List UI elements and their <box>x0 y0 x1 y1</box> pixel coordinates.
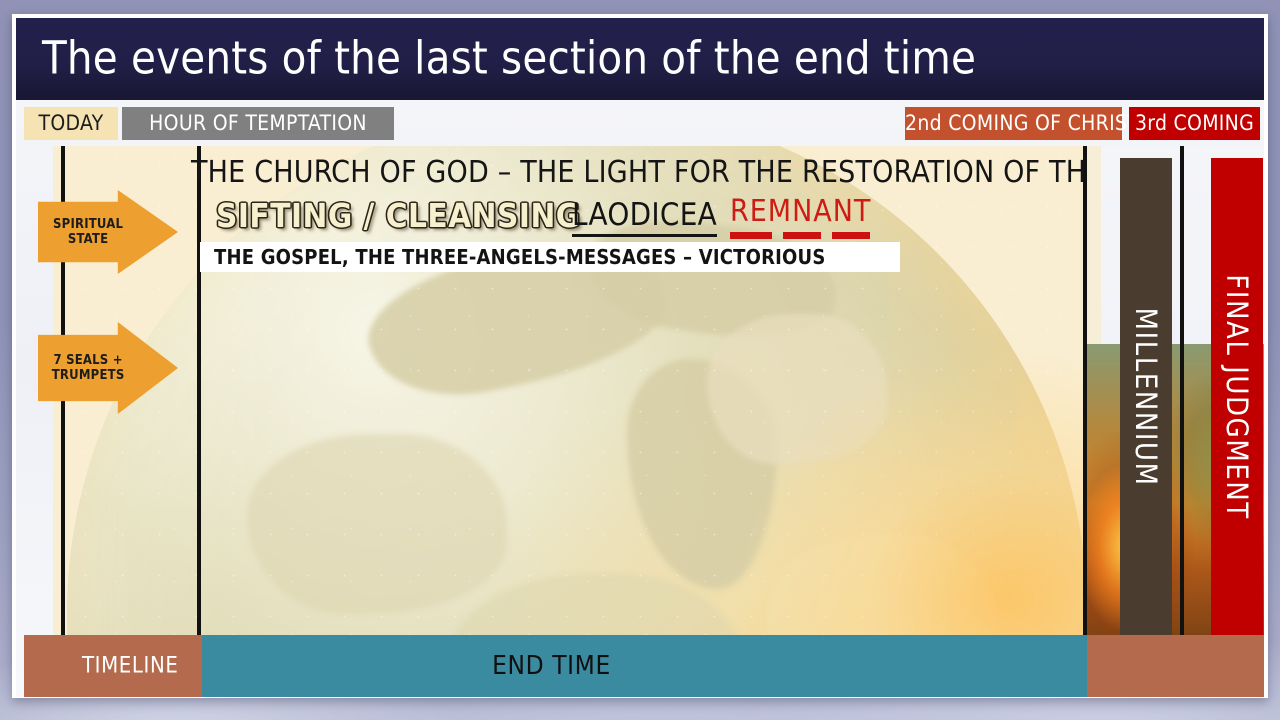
right-panel-region: MILLENNIUM FINAL JUDGMENT <box>1087 146 1264 635</box>
remnant-dashed-underline <box>730 232 871 239</box>
timeline-segment-after <box>1087 635 1264 697</box>
heading-laodicea: LAODICEA <box>572 197 717 237</box>
remnant-dash <box>730 232 772 239</box>
title-bar: The events of the last section of the en… <box>16 18 1264 100</box>
chip-second-coming-of-christ[interactable]: 2nd COMING OF CHRIST <box>905 107 1122 140</box>
remnant-dash <box>783 232 821 239</box>
banner-gospel-three-angels: THE GOSPEL, THE THREE-ANGELS-MESSAGES – … <box>200 242 900 272</box>
end-time-label: END TIME <box>16 651 1087 681</box>
heading-remnant: REMNANT <box>730 194 871 229</box>
page-title: The events of the last section of the en… <box>42 31 976 84</box>
panel-final-judgment: FINAL JUDGMENT <box>1211 158 1263 635</box>
arrow-seals-trumpets-label: 7 SEALS + TRUMPETS <box>44 353 132 383</box>
remnant-dash <box>832 232 870 239</box>
heading-remnant-group: REMNANT <box>730 194 871 239</box>
chip-hour-of-temptation[interactable]: HOUR OF TEMPTATION <box>122 107 394 140</box>
divider-hour <box>197 146 201 635</box>
panel-millennium: MILLENNIUM <box>1120 158 1172 635</box>
slide-root: The events of the last section of the en… <box>0 0 1280 720</box>
heading-sifting-cleansing: SIFTING / CLEANSING <box>216 196 581 235</box>
slide-stage: TODAY HOUR OF TEMPTATION 2nd COMING OF C… <box>16 100 1264 697</box>
arrow-label-line2: STATE <box>68 232 108 247</box>
arrow-label-line1: 7 SEALS + <box>53 353 122 368</box>
diagram-body: SPIRITUAL STATE 7 SEALS + TRUMPETS THE C… <box>16 146 1264 697</box>
panel-millennium-label: MILLENNIUM <box>1129 307 1163 486</box>
panel-final-judgment-label: FINAL JUDGMENT <box>1220 274 1254 519</box>
arrow-label-line1: SPIRITUAL <box>53 217 123 232</box>
timeline-bar: TIMELINE END TIME <box>16 635 1264 697</box>
chip-today[interactable]: TODAY <box>24 107 118 140</box>
arrow-spiritual-state-label: SPIRITUAL STATE <box>44 217 132 247</box>
chip-third-coming[interactable]: 3rd COMING <box>1129 107 1260 140</box>
arrow-label-line2: TRUMPETS <box>52 368 125 383</box>
divider-third-coming <box>1180 146 1184 697</box>
heading-church-of-god: THE CHURCH OF GOD – THE LIGHT FOR THE RE… <box>191 155 1051 190</box>
globe-fire-glow <box>727 335 1087 635</box>
